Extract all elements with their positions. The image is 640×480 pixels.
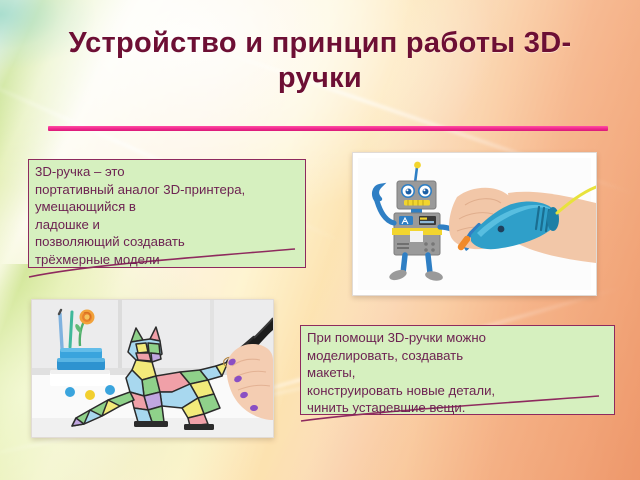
slide-canvas: Устройство и принцип работы 3D-ручки (0, 0, 640, 480)
callout-1-text: 3D-ручка – это портативный аналог 3D-при… (35, 163, 303, 268)
title-divider (48, 126, 608, 131)
page-title: Устройство и принцип работы 3D-ручки (40, 26, 600, 97)
robot-illustration (353, 153, 596, 295)
photo-robot-3dpen (352, 152, 597, 296)
cat-illustration (32, 300, 273, 437)
callout-2-text: При помощи 3D-ручки можно моделировать, … (307, 329, 612, 417)
photo-cat-3dpen (31, 299, 274, 438)
